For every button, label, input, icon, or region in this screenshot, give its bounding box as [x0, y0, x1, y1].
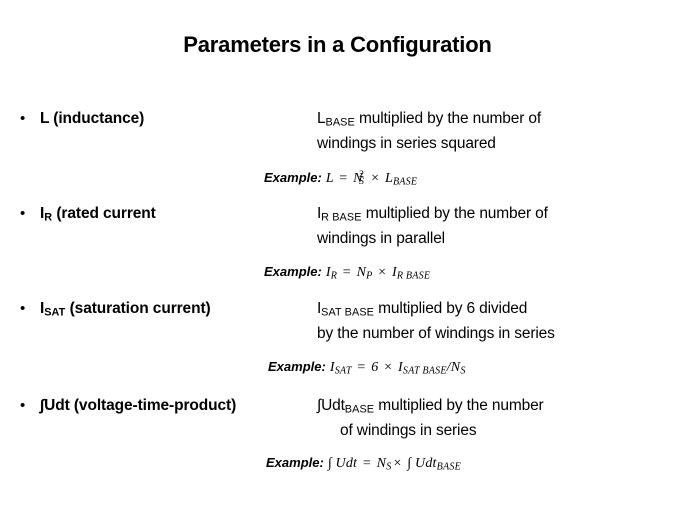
bullet-label-tail: (rated current	[52, 205, 156, 222]
bullet-row-content: • ISAT (saturation current) ISAT BASE mu…	[0, 298, 675, 320]
formula-divider-subscript: S	[460, 366, 465, 377]
formula-times: ×	[376, 265, 388, 280]
description-symbol-subscript: BASE	[345, 403, 374, 415]
formula-equals: =	[361, 456, 373, 471]
bullet-label-text: L (inductance)	[40, 110, 144, 127]
bullet-label-rated-current: IR (rated current	[40, 203, 156, 228]
formula-rhs: L	[385, 171, 393, 186]
bullet-label-tail: (saturation current)	[65, 300, 210, 317]
description-symbol: ∫Udt	[317, 397, 345, 414]
bullet-row-content: • L (inductance) LBASE multiplied by the…	[0, 108, 675, 130]
example-saturation-current: Example:ISAT = 6 × ISAT BASE/NS	[268, 358, 466, 381]
description-inductance: LBASE multiplied by the number of windin…	[317, 108, 657, 155]
formula-n-base: N	[357, 265, 367, 280]
example-formula-volt-time-product: ∫ Udt = NS× ∫ UdtBASE	[324, 456, 461, 471]
example-inductance: Example:L = NS2 × LBASE	[264, 169, 417, 192]
description-line2: windings in series squared	[317, 133, 657, 155]
bullet-row-content: • IR (rated current IR BASE multiplied b…	[0, 203, 675, 225]
formula-lhs-subscript: SAT	[335, 366, 352, 377]
description-symbol-subscript: R BASE	[321, 211, 361, 223]
description-line2: of windings in series	[340, 420, 657, 442]
description-line1: multiplied by the number of	[355, 110, 541, 127]
bullet-label-text: ∫Udt (voltage-time-product)	[40, 397, 236, 414]
formula-n-squared: NS2	[353, 170, 362, 188]
formula-rhs-subscript: BASE	[437, 462, 461, 473]
formula-equals: =	[355, 360, 367, 375]
example-formula-saturation-current: ISAT = 6 × ISAT BASE/NS	[326, 360, 466, 375]
example-rated-current: Example:IR = NP × IR BASE	[264, 263, 430, 286]
bullet-row-inductance: • L (inductance) LBASE multiplied by the…	[0, 108, 675, 130]
bullet-icon: •	[20, 395, 25, 417]
formula-equals: =	[341, 265, 353, 280]
bullet-row-saturation-current: • ISAT (saturation current) ISAT BASE mu…	[0, 298, 675, 320]
example-label: Example:	[266, 455, 324, 470]
formula-n-base: N	[377, 456, 387, 471]
description-rated-current: IR BASE multiplied by the number of wind…	[317, 203, 657, 250]
formula-rhs: ∫ Udt	[407, 456, 436, 471]
bullet-row-rated-current: • IR (rated current IR BASE multiplied b…	[0, 203, 675, 225]
description-line2: by the number of windings in series	[317, 323, 657, 345]
description-saturation-current: ISAT BASE multiplied by 6 divided by the…	[317, 298, 657, 345]
description-symbol-subscript: SAT BASE	[321, 306, 374, 318]
bullet-icon: •	[20, 108, 25, 130]
description-line2: windings in parallel	[317, 228, 657, 250]
formula-n-subscript: P	[366, 271, 372, 282]
bullet-label-subscript: R	[44, 211, 52, 223]
bullet-row-content: • ∫Udt (voltage-time-product) ∫UdtBASE m…	[0, 395, 675, 417]
description-line1: multiplied by the number	[374, 397, 543, 414]
formula-times: ×	[369, 171, 381, 186]
bullet-row-volt-time-product: • ∫Udt (voltage-time-product) ∫UdtBASE m…	[0, 395, 675, 417]
page-title: Parameters in a Configuration	[0, 32, 675, 58]
formula-n-base: 6	[371, 360, 378, 375]
formula-rhs-subscript: R BASE	[397, 271, 430, 282]
example-label: Example:	[264, 170, 322, 185]
formula-times: ×	[382, 360, 394, 375]
formula-rhs-subscript: SAT BASE	[403, 366, 447, 377]
bullet-label-volt-time-product: ∫Udt (voltage-time-product)	[40, 395, 236, 417]
formula-lhs-subscript: R	[331, 271, 337, 282]
formula-n-superscript: 2	[359, 166, 364, 184]
description-line1: multiplied by the number of	[362, 205, 548, 222]
example-label: Example:	[264, 264, 322, 279]
example-formula-rated-current: IR = NP × IR BASE	[322, 265, 430, 280]
formula-equals: =	[337, 171, 349, 186]
description-symbol-subscript: BASE	[325, 116, 354, 128]
example-formula-inductance: L = NS2 × LBASE	[322, 171, 417, 186]
description-line1: multiplied by 6 divided	[374, 300, 527, 317]
bullet-label-inductance: L (inductance)	[40, 108, 144, 130]
formula-lhs: L	[326, 171, 334, 186]
formula-times: ×	[391, 456, 403, 471]
bullet-icon: •	[20, 298, 25, 320]
example-volt-time-product: Example:∫ Udt = NS× ∫ UdtBASE	[266, 454, 461, 477]
formula-divider: /N	[447, 360, 461, 375]
formula-lhs: ∫ Udt	[328, 456, 357, 471]
formula-rhs-subscript: BASE	[393, 177, 417, 188]
example-label: Example:	[268, 359, 326, 374]
bullet-icon: •	[20, 203, 25, 225]
bullet-label-subscript: SAT	[44, 306, 65, 318]
description-volt-time-product: ∫UdtBASE multiplied by the number of win…	[317, 395, 657, 442]
bullet-label-saturation-current: ISAT (saturation current)	[40, 298, 211, 323]
